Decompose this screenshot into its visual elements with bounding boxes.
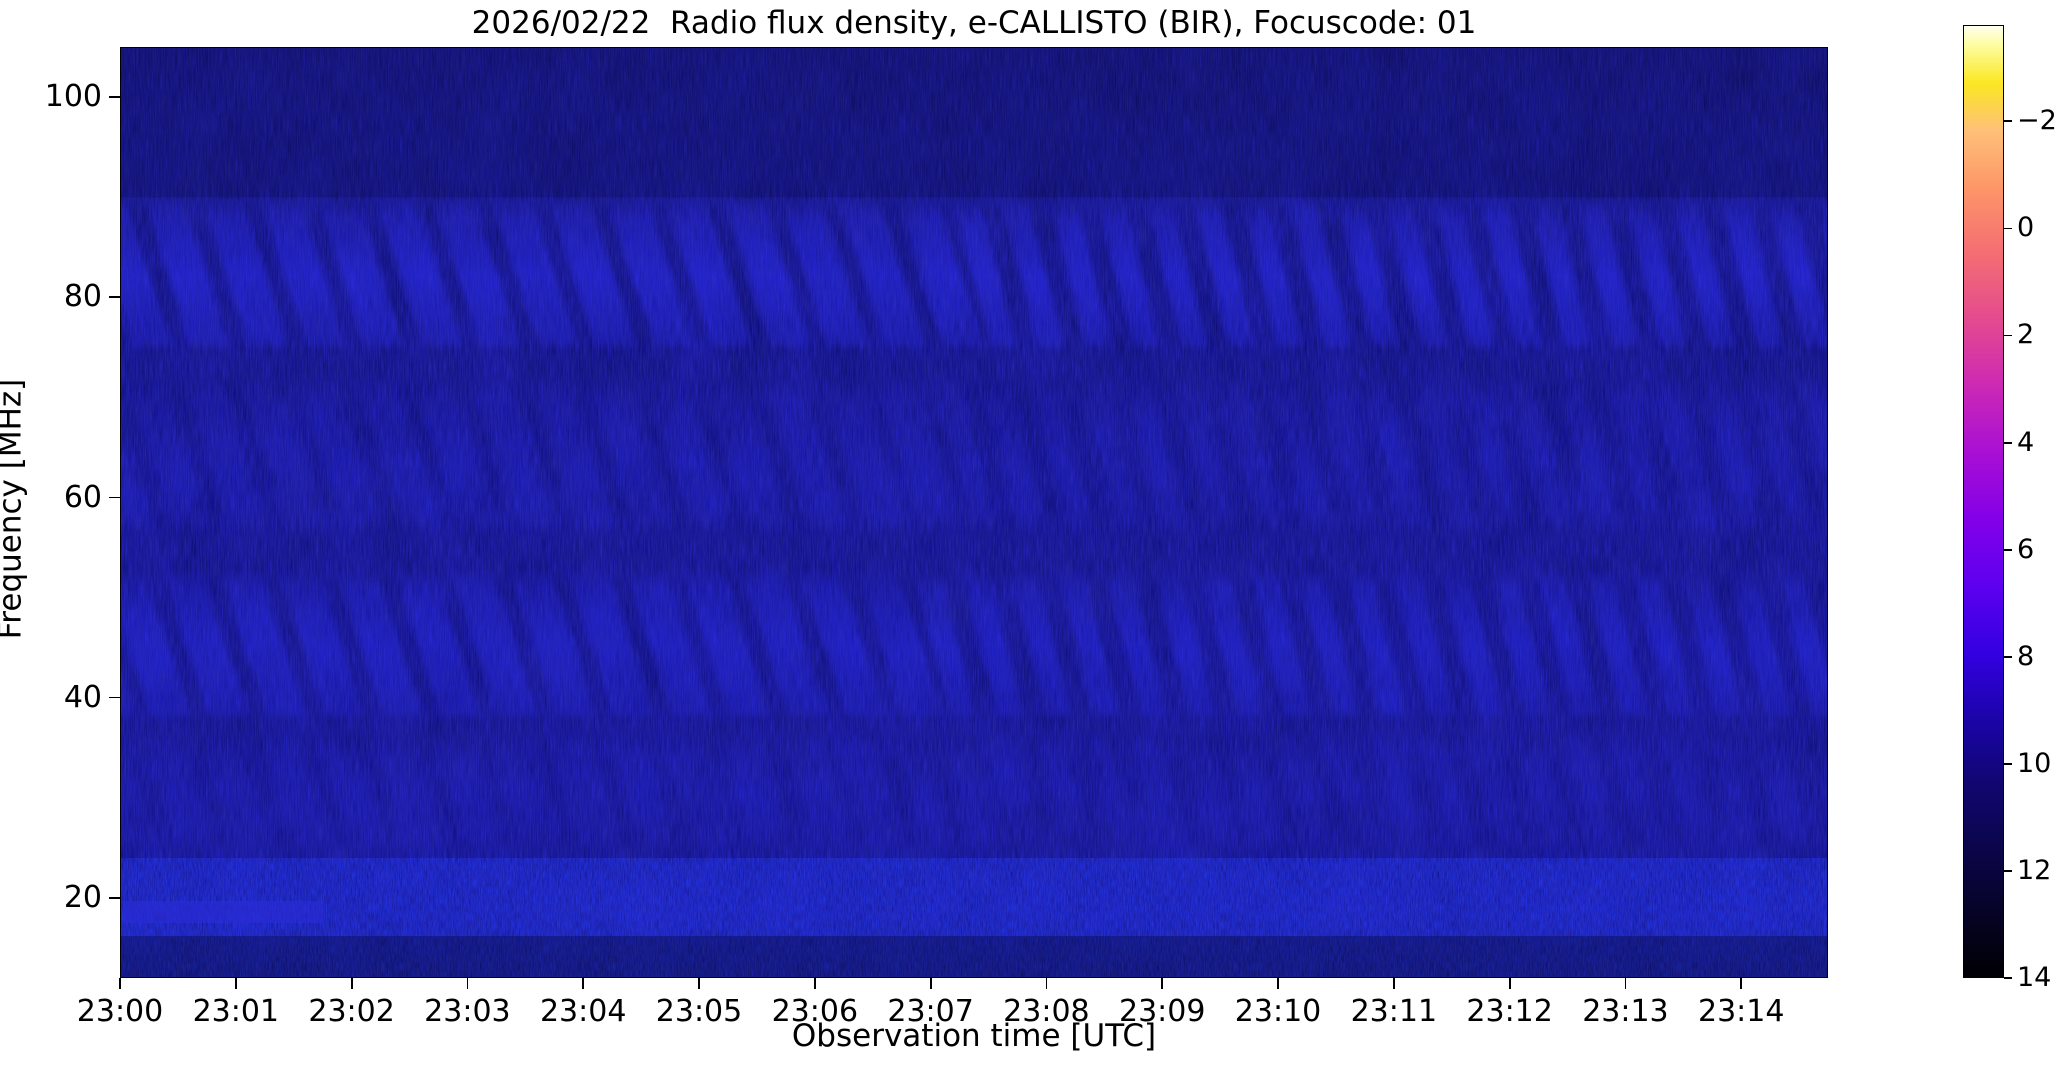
colorbar-gradient <box>1963 25 2004 978</box>
y-axis-label: Frequency [MHz] <box>0 44 29 975</box>
x-axis-label: Observation time [UTC] <box>120 1018 1828 1054</box>
y-tick-mark <box>109 697 120 699</box>
y-tick-label: 100 <box>45 76 102 118</box>
x-tick-mark <box>1161 978 1163 989</box>
x-tick-mark <box>235 978 237 989</box>
colorbar-tick-label: −2 <box>2017 101 2057 141</box>
y-tick-mark <box>109 897 120 899</box>
colorbar-tick-label: 10 <box>2017 744 2051 784</box>
colorbar-tick-label: 0 <box>2017 208 2034 248</box>
colorbar-tick-mark <box>2004 335 2012 337</box>
x-tick-mark <box>119 978 121 989</box>
colorbar-tick-mark <box>2004 870 2012 872</box>
x-tick-mark <box>698 978 700 989</box>
x-tick-mark <box>1277 978 1279 989</box>
y-tick-mark <box>109 497 120 499</box>
colorbar-tick-label: 8 <box>2017 637 2034 677</box>
colorbar-tick-mark <box>2004 228 2012 230</box>
y-tick-label: 80 <box>64 276 102 318</box>
x-tick-mark <box>1509 978 1511 989</box>
colorbar-tick-mark <box>2004 763 2012 765</box>
x-tick-mark <box>1046 978 1048 989</box>
y-tick-mark <box>109 296 120 298</box>
x-tick-mark <box>351 978 353 989</box>
x-tick-mark <box>1625 978 1627 989</box>
colorbar-tick-label: 12 <box>2017 851 2051 891</box>
page-title: 2026/02/22 Radio flux density, e-CALLIST… <box>120 2 1828 44</box>
x-tick-mark <box>814 978 816 989</box>
x-tick-mark <box>582 978 584 989</box>
colorbar-tick-label: 2 <box>2017 315 2034 355</box>
y-tick-label: 20 <box>64 877 102 919</box>
colorbar-tick-label: 14 <box>2017 958 2051 998</box>
colorbar-tick-mark <box>2004 549 2012 551</box>
colorbar-tick-label: 6 <box>2017 530 2034 570</box>
y-tick-label: 40 <box>64 677 102 719</box>
spectrogram-axes[interactable] <box>120 47 1828 978</box>
figure-canvas: 2026/02/22 Radio flux density, e-CALLIST… <box>0 0 2066 1067</box>
y-tick-mark <box>109 96 120 98</box>
colorbar-tick-label: 4 <box>2017 423 2034 463</box>
colorbar-tick-mark <box>2004 120 2012 122</box>
spectrogram-image <box>121 48 1827 977</box>
y-tick-label: 60 <box>64 477 102 519</box>
x-tick-mark <box>1393 978 1395 989</box>
colorbar[interactable]: 14121086420−2 <box>1963 25 2004 978</box>
x-tick-mark <box>1740 978 1742 989</box>
x-tick-mark <box>467 978 469 989</box>
colorbar-tick-mark <box>2004 656 2012 658</box>
x-tick-mark <box>930 978 932 989</box>
colorbar-tick-mark <box>2004 977 2012 979</box>
colorbar-tick-mark <box>2004 442 2012 444</box>
